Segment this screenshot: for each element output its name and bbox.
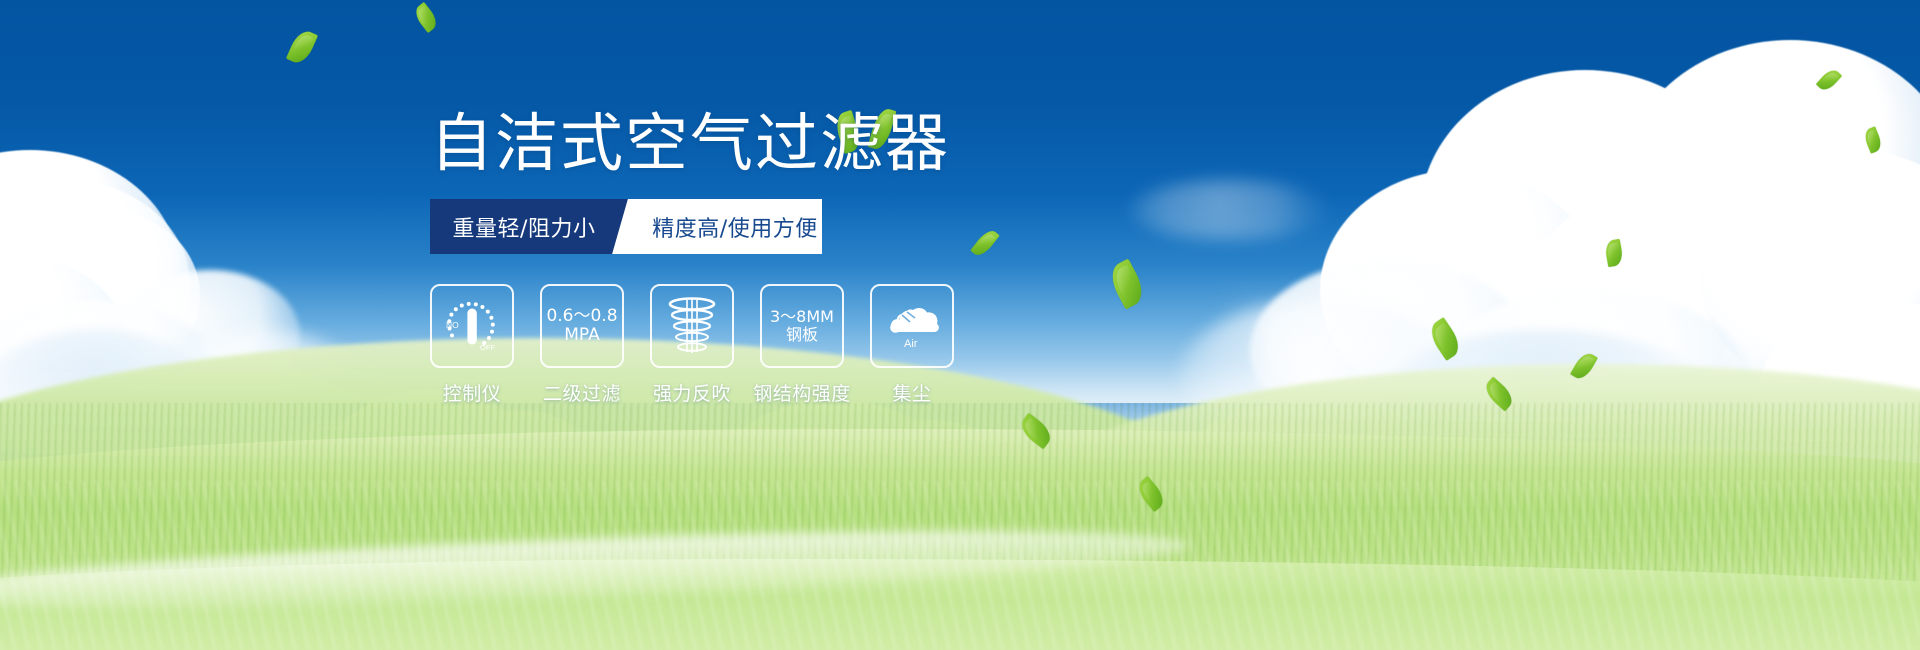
pressure-unit: MPA	[546, 326, 617, 345]
pressure-text-icon: 0.6～0.8 MPA	[546, 307, 617, 345]
feature-caption: 控制仪	[443, 379, 502, 406]
feature-caption: 集尘	[892, 379, 931, 406]
feature-item-steel[interactable]: 3～8MM 钢板 钢结构强度	[760, 284, 844, 406]
pressure-value: 0.6～0.8	[546, 307, 617, 326]
feature-icon-box	[650, 284, 734, 368]
steel-thickness: 3～8MM	[770, 308, 834, 326]
feature-badge: 重量轻/阻力小 精度高/使用方便	[430, 199, 822, 254]
feature-caption: 钢结构强度	[753, 379, 851, 406]
control-dial-icon: NO OFF	[440, 294, 504, 358]
blowback-coil-icon	[663, 296, 721, 356]
badge-left-segment: 重量轻/阻力小	[430, 199, 638, 254]
feature-icon-row: NO OFF 控制仪 0.6～0.8 MPA 二级过滤	[430, 284, 1130, 406]
dial-off-label: OFF	[480, 343, 495, 352]
feature-caption: 强力反吹	[653, 379, 731, 406]
badge-left-label: 重量轻/阻力小	[453, 211, 596, 243]
feature-item-pressure[interactable]: 0.6～0.8 MPA 二级过滤	[540, 284, 624, 406]
feature-item-control[interactable]: NO OFF 控制仪	[430, 284, 514, 406]
feature-icon-box: 0.6～0.8 MPA	[540, 284, 624, 368]
cloud-label: Air	[904, 338, 918, 350]
feature-item-blowback[interactable]: 强力反吹	[650, 284, 734, 406]
badge-right-segment: 精度高/使用方便	[638, 199, 822, 254]
dust-cloud-icon: Air	[880, 298, 944, 354]
feature-icon-box: 3～8MM 钢板	[760, 284, 844, 368]
steel-plate-text-icon: 3～8MM 钢板	[770, 308, 834, 344]
feature-item-dust[interactable]: Air 集尘	[870, 284, 954, 406]
product-hero-banner: 自洁式空气过滤器 重量轻/阻力小 精度高/使用方便	[0, 0, 1920, 650]
badge-right-label: 精度高/使用方便	[652, 211, 817, 243]
feature-caption: 二级过滤	[543, 379, 621, 406]
feature-icon-box: Air	[870, 284, 954, 368]
steel-material: 钢板	[770, 326, 834, 344]
page-title: 自洁式空气过滤器	[430, 112, 1130, 175]
dial-on-label: NO	[446, 320, 459, 330]
hero-content: 自洁式空气过滤器 重量轻/阻力小 精度高/使用方便	[430, 112, 1130, 406]
feature-icon-box: NO OFF	[430, 284, 514, 368]
